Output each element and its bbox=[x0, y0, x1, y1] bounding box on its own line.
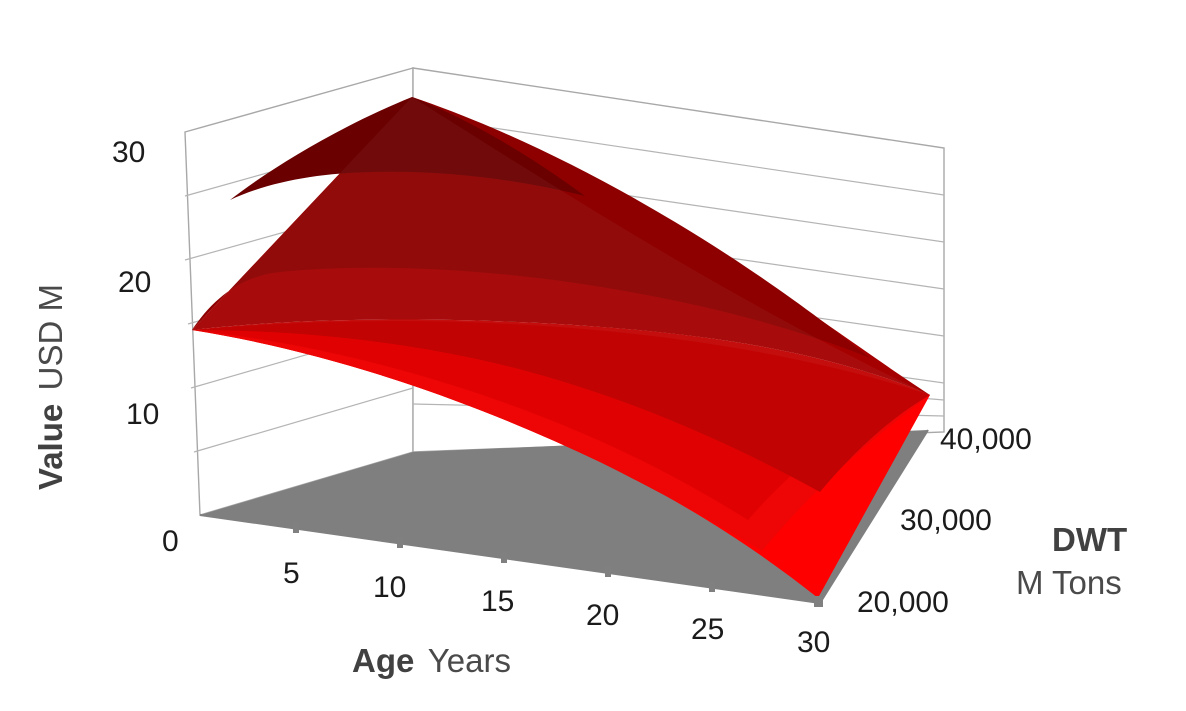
x-tickmark bbox=[709, 581, 715, 592]
y-tick-label: 10 bbox=[126, 398, 159, 431]
y-axis-title: Value USD M bbox=[32, 284, 69, 490]
x-tickmark bbox=[501, 552, 507, 563]
z-axis-title-bold: DWT bbox=[1052, 521, 1127, 558]
y-tick-label: 0 bbox=[162, 525, 179, 558]
y-axis-title-reg: USD M bbox=[32, 284, 69, 390]
x-axis-title: Age Years bbox=[352, 642, 511, 679]
x-tickmark bbox=[814, 596, 823, 607]
x-axis-title-bold: Age bbox=[352, 642, 414, 679]
y-tick-label: 30 bbox=[112, 136, 145, 169]
z-axis-title-reg: M Tons bbox=[1016, 564, 1122, 601]
x-tickmark bbox=[293, 522, 299, 533]
y-tick-label: 20 bbox=[118, 266, 151, 299]
x-axis-title-reg: Years bbox=[428, 642, 511, 679]
x-tick-label: 25 bbox=[691, 613, 724, 646]
y-axis-title-bold: Value bbox=[32, 404, 69, 490]
z-tick-label: 40,000 bbox=[940, 423, 1032, 456]
x-tick-label: 30 bbox=[797, 626, 830, 659]
x-tickmark bbox=[397, 537, 403, 548]
surface-chart-svg: 30 20 10 0 5 10 15 20 25 30 40,000 30,00… bbox=[0, 0, 1186, 711]
x-tick-label: 20 bbox=[586, 599, 619, 632]
x-tickmark bbox=[605, 566, 611, 577]
y-axis-title-text: Value USD M bbox=[32, 284, 69, 490]
z-tick-label: 20,000 bbox=[857, 586, 949, 619]
y-axis-tick-labels: 30 20 10 0 bbox=[112, 136, 179, 558]
x-tick-label: 10 bbox=[373, 571, 406, 604]
x-axis-title-text: Age Years bbox=[352, 642, 511, 679]
z-tick-label: 30,000 bbox=[900, 504, 992, 537]
surface-chart-root: 30 20 10 0 5 10 15 20 25 30 40,000 30,00… bbox=[0, 0, 1186, 711]
z-axis-title: DWT M Tons bbox=[1016, 521, 1127, 601]
x-tick-label: 15 bbox=[481, 585, 514, 618]
x-tick-label: 5 bbox=[283, 557, 300, 590]
